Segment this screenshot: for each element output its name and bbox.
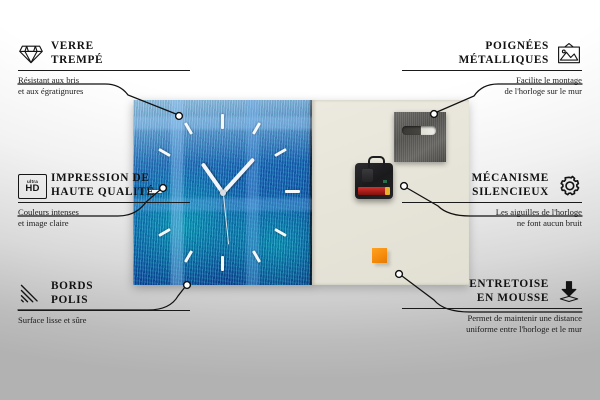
feature-desc-line1: Permet de maintenir une distance xyxy=(467,313,582,323)
feature-title-line2: TREMPÉ xyxy=(51,54,103,66)
clock-tick xyxy=(221,256,224,271)
feature-title-line1: BORDS xyxy=(51,280,93,292)
clock-tick xyxy=(158,148,171,157)
feature-title-line2: MÉTALLIQUES xyxy=(459,54,549,66)
feature-title: VERRE TREMPÉ xyxy=(51,40,103,67)
feature-desc-line1: Résistant aux bris xyxy=(18,75,79,85)
clock-tick xyxy=(252,122,261,135)
clock-tick xyxy=(252,250,261,263)
feature-header: ultra HD IMPRESSION DE HAUTE QUALITÉ xyxy=(18,172,190,199)
feature-title: ENTRETOISE EN MOUSSE xyxy=(469,278,549,305)
feature-divider xyxy=(402,70,582,71)
hanger-slot xyxy=(402,126,436,135)
feature-divider xyxy=(402,202,582,203)
clock-center-cap xyxy=(220,190,226,196)
feature-header: POIGNÉES MÉTALLIQUES xyxy=(402,40,582,67)
mechanism-hanging-loop xyxy=(368,156,385,168)
feature-desc-line1: Couleurs intenses xyxy=(18,207,79,217)
feature-desc-line2: de l'horloge sur le mur xyxy=(505,86,582,96)
feature-poignees-metalliques: POIGNÉES MÉTALLIQUES Facilite le montage… xyxy=(402,40,582,96)
feature-title-line2: EN MOUSSE xyxy=(477,292,549,304)
feature-description: Surface lisse et sûre xyxy=(18,315,190,326)
arrow-down-layers-icon xyxy=(556,280,582,304)
feature-desc-line1: Les aiguilles de l'horloge xyxy=(496,207,582,217)
feature-description: Résistant aux bris et aux égratignures xyxy=(18,75,190,96)
feature-desc-line1: Surface lisse et sûre xyxy=(18,315,87,325)
clock-tick xyxy=(274,228,287,237)
feature-title-line1: ENTRETOISE xyxy=(469,278,549,290)
feature-header: VERRE TREMPÉ xyxy=(18,40,190,67)
foam-spacer xyxy=(372,248,387,263)
quartz-mechanism xyxy=(355,163,393,199)
feature-divider xyxy=(402,308,582,309)
feature-impression-haute-qualite: ultra HD IMPRESSION DE HAUTE QUALITÉ Cou… xyxy=(18,172,190,228)
clock-tick xyxy=(285,190,300,193)
feature-header: MÉCANISME SILENCIEUX xyxy=(402,172,582,199)
feature-description: Couleurs intenses et image claire xyxy=(18,207,190,228)
feature-title-line1: IMPRESSION DE xyxy=(51,172,150,184)
clock-minute-hand xyxy=(222,157,256,194)
feature-desc-line1: Facilite le montage xyxy=(516,75,582,85)
feature-desc-line2: uniforme entre l'horloge et le mur xyxy=(466,324,582,334)
feature-entretoise-en-mousse: ENTRETOISE EN MOUSSE Permet de maintenir… xyxy=(402,278,582,334)
feature-title-line2: HAUTE QUALITÉ xyxy=(51,186,155,198)
ultra-hd-icon: ultra HD xyxy=(18,174,44,198)
clock-hour-hand xyxy=(201,162,225,194)
feature-divider xyxy=(18,202,190,203)
clock-tick xyxy=(274,148,287,157)
feature-title: POIGNÉES MÉTALLIQUES xyxy=(459,40,549,67)
feature-header: ENTRETOISE EN MOUSSE xyxy=(402,278,582,305)
feature-title-line2: POLIS xyxy=(51,294,88,306)
feature-verre-trempe: VERRE TREMPÉ Résistant aux bris et aux é… xyxy=(18,40,190,96)
feature-description: Les aiguilles de l'horloge ne font aucun… xyxy=(402,207,582,228)
feature-title-line1: POIGNÉES xyxy=(485,40,549,52)
diamond-icon xyxy=(18,42,44,66)
badge-main-text: HD xyxy=(25,184,39,194)
feature-description: Permet de maintenir une distance uniform… xyxy=(402,313,582,334)
battery xyxy=(358,187,388,195)
feature-title: IMPRESSION DE HAUTE QUALITÉ xyxy=(51,172,155,199)
clock-tick xyxy=(184,250,193,263)
feature-title-line1: VERRE xyxy=(51,40,94,52)
feature-header: BORDS POLIS xyxy=(18,280,190,307)
metal-hanger-plate xyxy=(394,112,446,162)
feature-mecanisme-silencieux: MÉCANISME SILENCIEUX Les aiguilles de l'… xyxy=(402,172,582,228)
feature-divider xyxy=(18,310,190,311)
gear-icon xyxy=(556,174,582,198)
feature-desc-line2: et aux égratignures xyxy=(18,86,83,96)
feature-title-line1: MÉCANISME xyxy=(472,172,549,184)
feature-bords-polis: BORDS POLIS Surface lisse et sûre xyxy=(18,280,190,326)
clock-tick xyxy=(184,122,193,135)
mechanism-indicator xyxy=(383,180,387,183)
feature-desc-line2: et image claire xyxy=(18,218,69,228)
mechanism-housing-detail xyxy=(362,169,373,182)
feature-desc-line2: ne font aucun bruit xyxy=(517,218,582,228)
infographic-canvas: VERRE TREMPÉ Résistant aux bris et aux é… xyxy=(0,0,600,400)
feature-title: BORDS POLIS xyxy=(51,280,93,307)
clock-tick xyxy=(221,114,224,129)
ultra-hd-badge: ultra HD xyxy=(18,174,47,199)
clock-tick xyxy=(158,228,171,237)
clock-second-hand xyxy=(222,192,229,244)
polished-edges-icon xyxy=(18,282,44,306)
feature-title: MÉCANISME SILENCIEUX xyxy=(472,172,549,199)
feature-divider xyxy=(18,70,190,71)
picture-frame-hanger-icon xyxy=(556,42,582,66)
feature-description: Facilite le montage de l'horloge sur le … xyxy=(402,75,582,96)
feature-title-line2: SILENCIEUX xyxy=(472,186,549,198)
